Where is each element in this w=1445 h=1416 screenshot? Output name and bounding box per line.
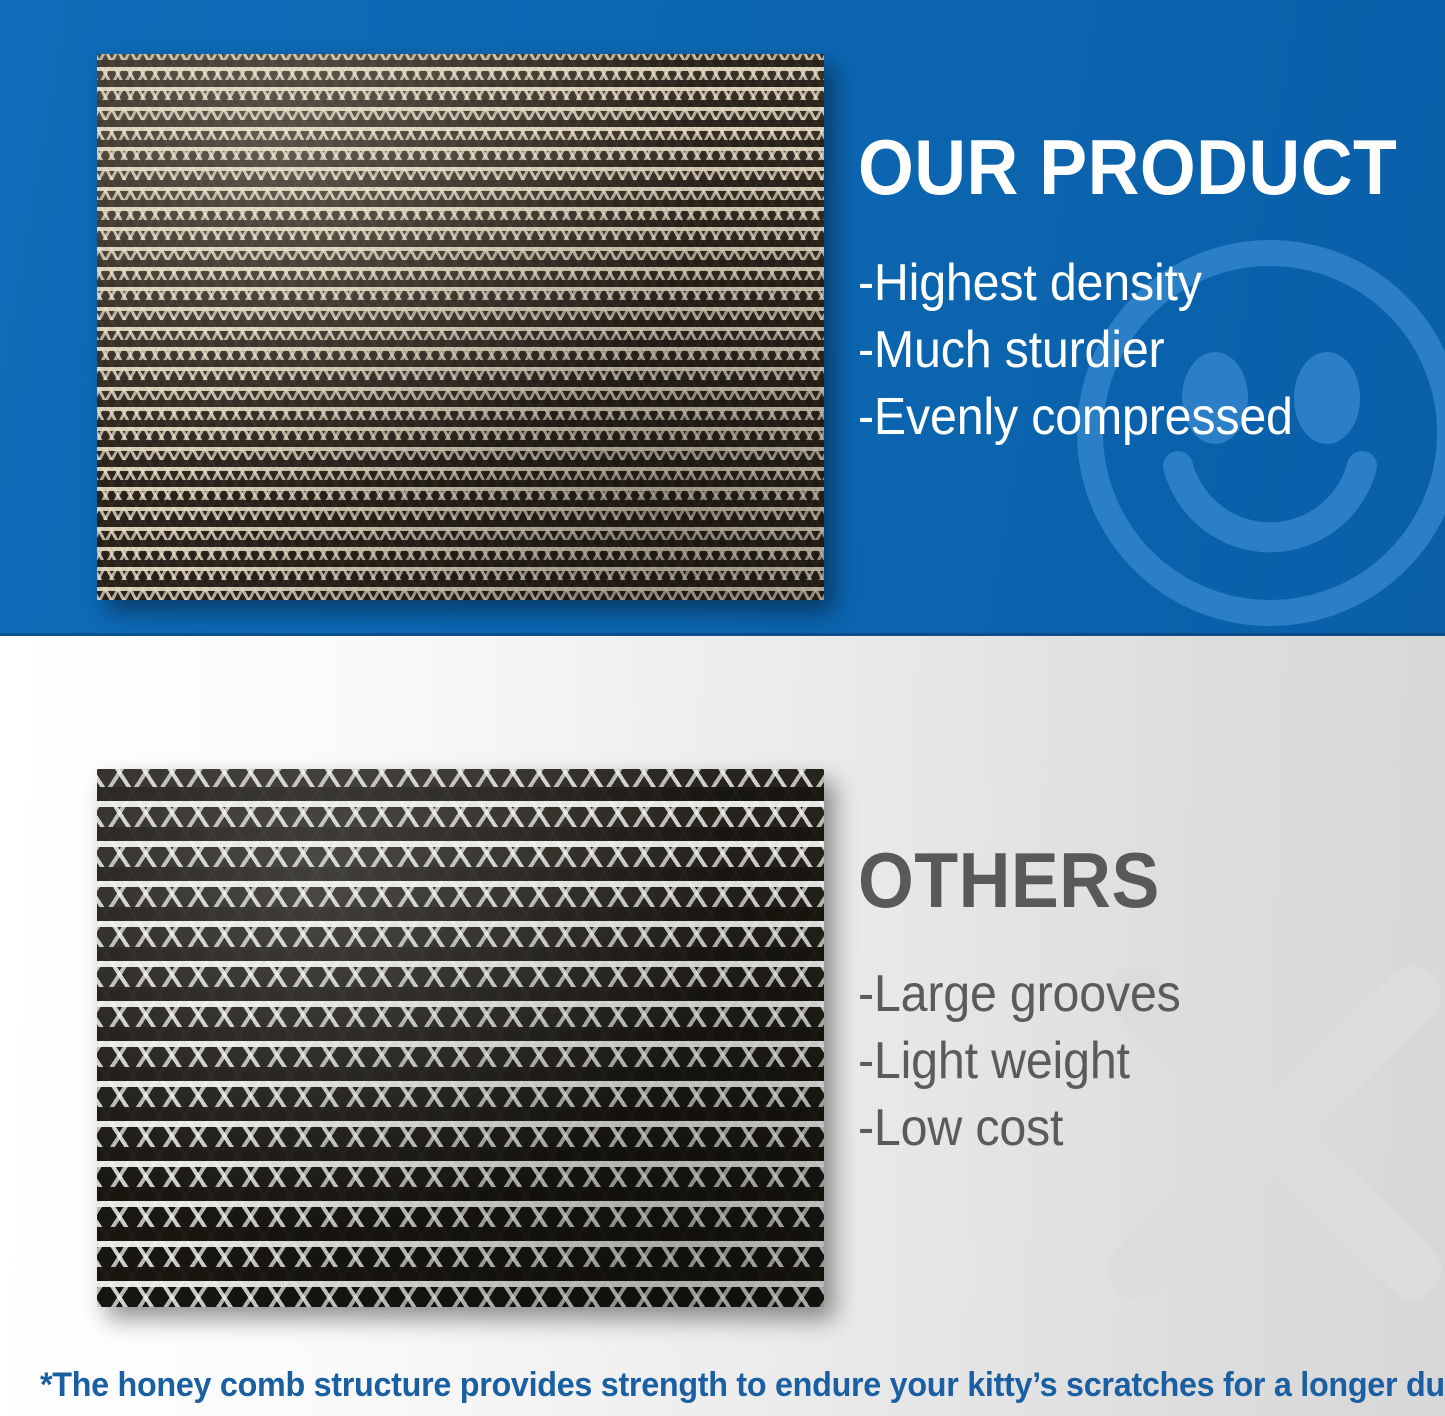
list-item: -Low cost bbox=[858, 1095, 1388, 1162]
our-product-photo bbox=[97, 54, 824, 600]
our-product-copy: OUR PRODUCT -Highest density -Much sturd… bbox=[858, 132, 1428, 451]
coarse-honeycomb-texture bbox=[97, 769, 824, 1307]
others-feature-list: -Large grooves -Light weight -Low cost bbox=[858, 961, 1428, 1162]
others-photo bbox=[97, 769, 824, 1307]
list-item: -Large grooves bbox=[858, 961, 1388, 1028]
footnote-text: *The honey comb structure provides stren… bbox=[40, 1368, 1351, 1402]
our-product-panel: OUR PRODUCT -Highest density -Much sturd… bbox=[0, 0, 1445, 636]
list-item: -Highest density bbox=[858, 250, 1388, 317]
others-heading: OTHERS bbox=[858, 845, 1382, 917]
list-item: -Light weight bbox=[858, 1028, 1388, 1095]
list-item: -Evenly compressed bbox=[858, 384, 1388, 451]
our-product-feature-list: -Highest density -Much sturdier -Evenly … bbox=[858, 250, 1428, 451]
others-copy: OTHERS -Large grooves -Light weight -Low… bbox=[858, 845, 1428, 1162]
product-comparison-infographic: OUR PRODUCT -Highest density -Much sturd… bbox=[0, 0, 1445, 1416]
list-item: -Much sturdier bbox=[858, 317, 1388, 384]
our-product-heading: OUR PRODUCT bbox=[858, 132, 1382, 204]
dense-honeycomb-texture bbox=[97, 54, 824, 600]
